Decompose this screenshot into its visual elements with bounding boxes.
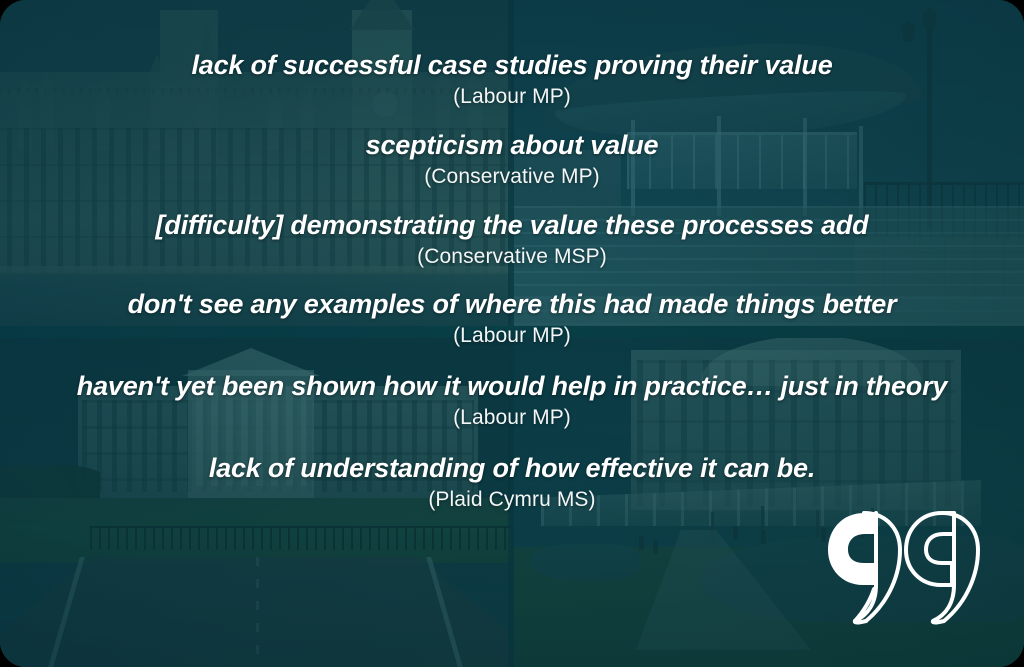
quote-item: haven't yet been shown how it would help…	[0, 369, 1024, 431]
quote-attribution: (Conservative MSP)	[0, 243, 1024, 270]
quote-text: lack of understanding of how effective i…	[0, 451, 1024, 485]
quote-attribution: (Labour MP)	[0, 83, 1024, 110]
quote-item: lack of successful case studies proving …	[0, 48, 1024, 110]
quote-attribution: (Plaid Cymru MS)	[0, 486, 1024, 513]
quote-item: [difficulty] demonstrating the value the…	[0, 208, 1024, 270]
quote-list: lack of successful case studies proving …	[0, 0, 1024, 667]
quote-slide: lack of successful case studies proving …	[0, 0, 1024, 667]
quote-item: lack of understanding of how effective i…	[0, 451, 1024, 513]
quote-text: scepticism about value	[0, 128, 1024, 162]
quote-item: don't see any examples of where this had…	[0, 287, 1024, 349]
quote-text: don't see any examples of where this had…	[0, 287, 1024, 321]
quote-attribution: (Labour MP)	[0, 404, 1024, 431]
quote-item: scepticism about value (Conservative MP)	[0, 128, 1024, 190]
quote-text: [difficulty] demonstrating the value the…	[0, 208, 1024, 242]
quote-text: lack of successful case studies proving …	[0, 48, 1024, 82]
quote-text: haven't yet been shown how it would help…	[0, 369, 1024, 403]
quote-attribution: (Conservative MP)	[0, 163, 1024, 190]
quote-attribution: (Labour MP)	[0, 322, 1024, 349]
